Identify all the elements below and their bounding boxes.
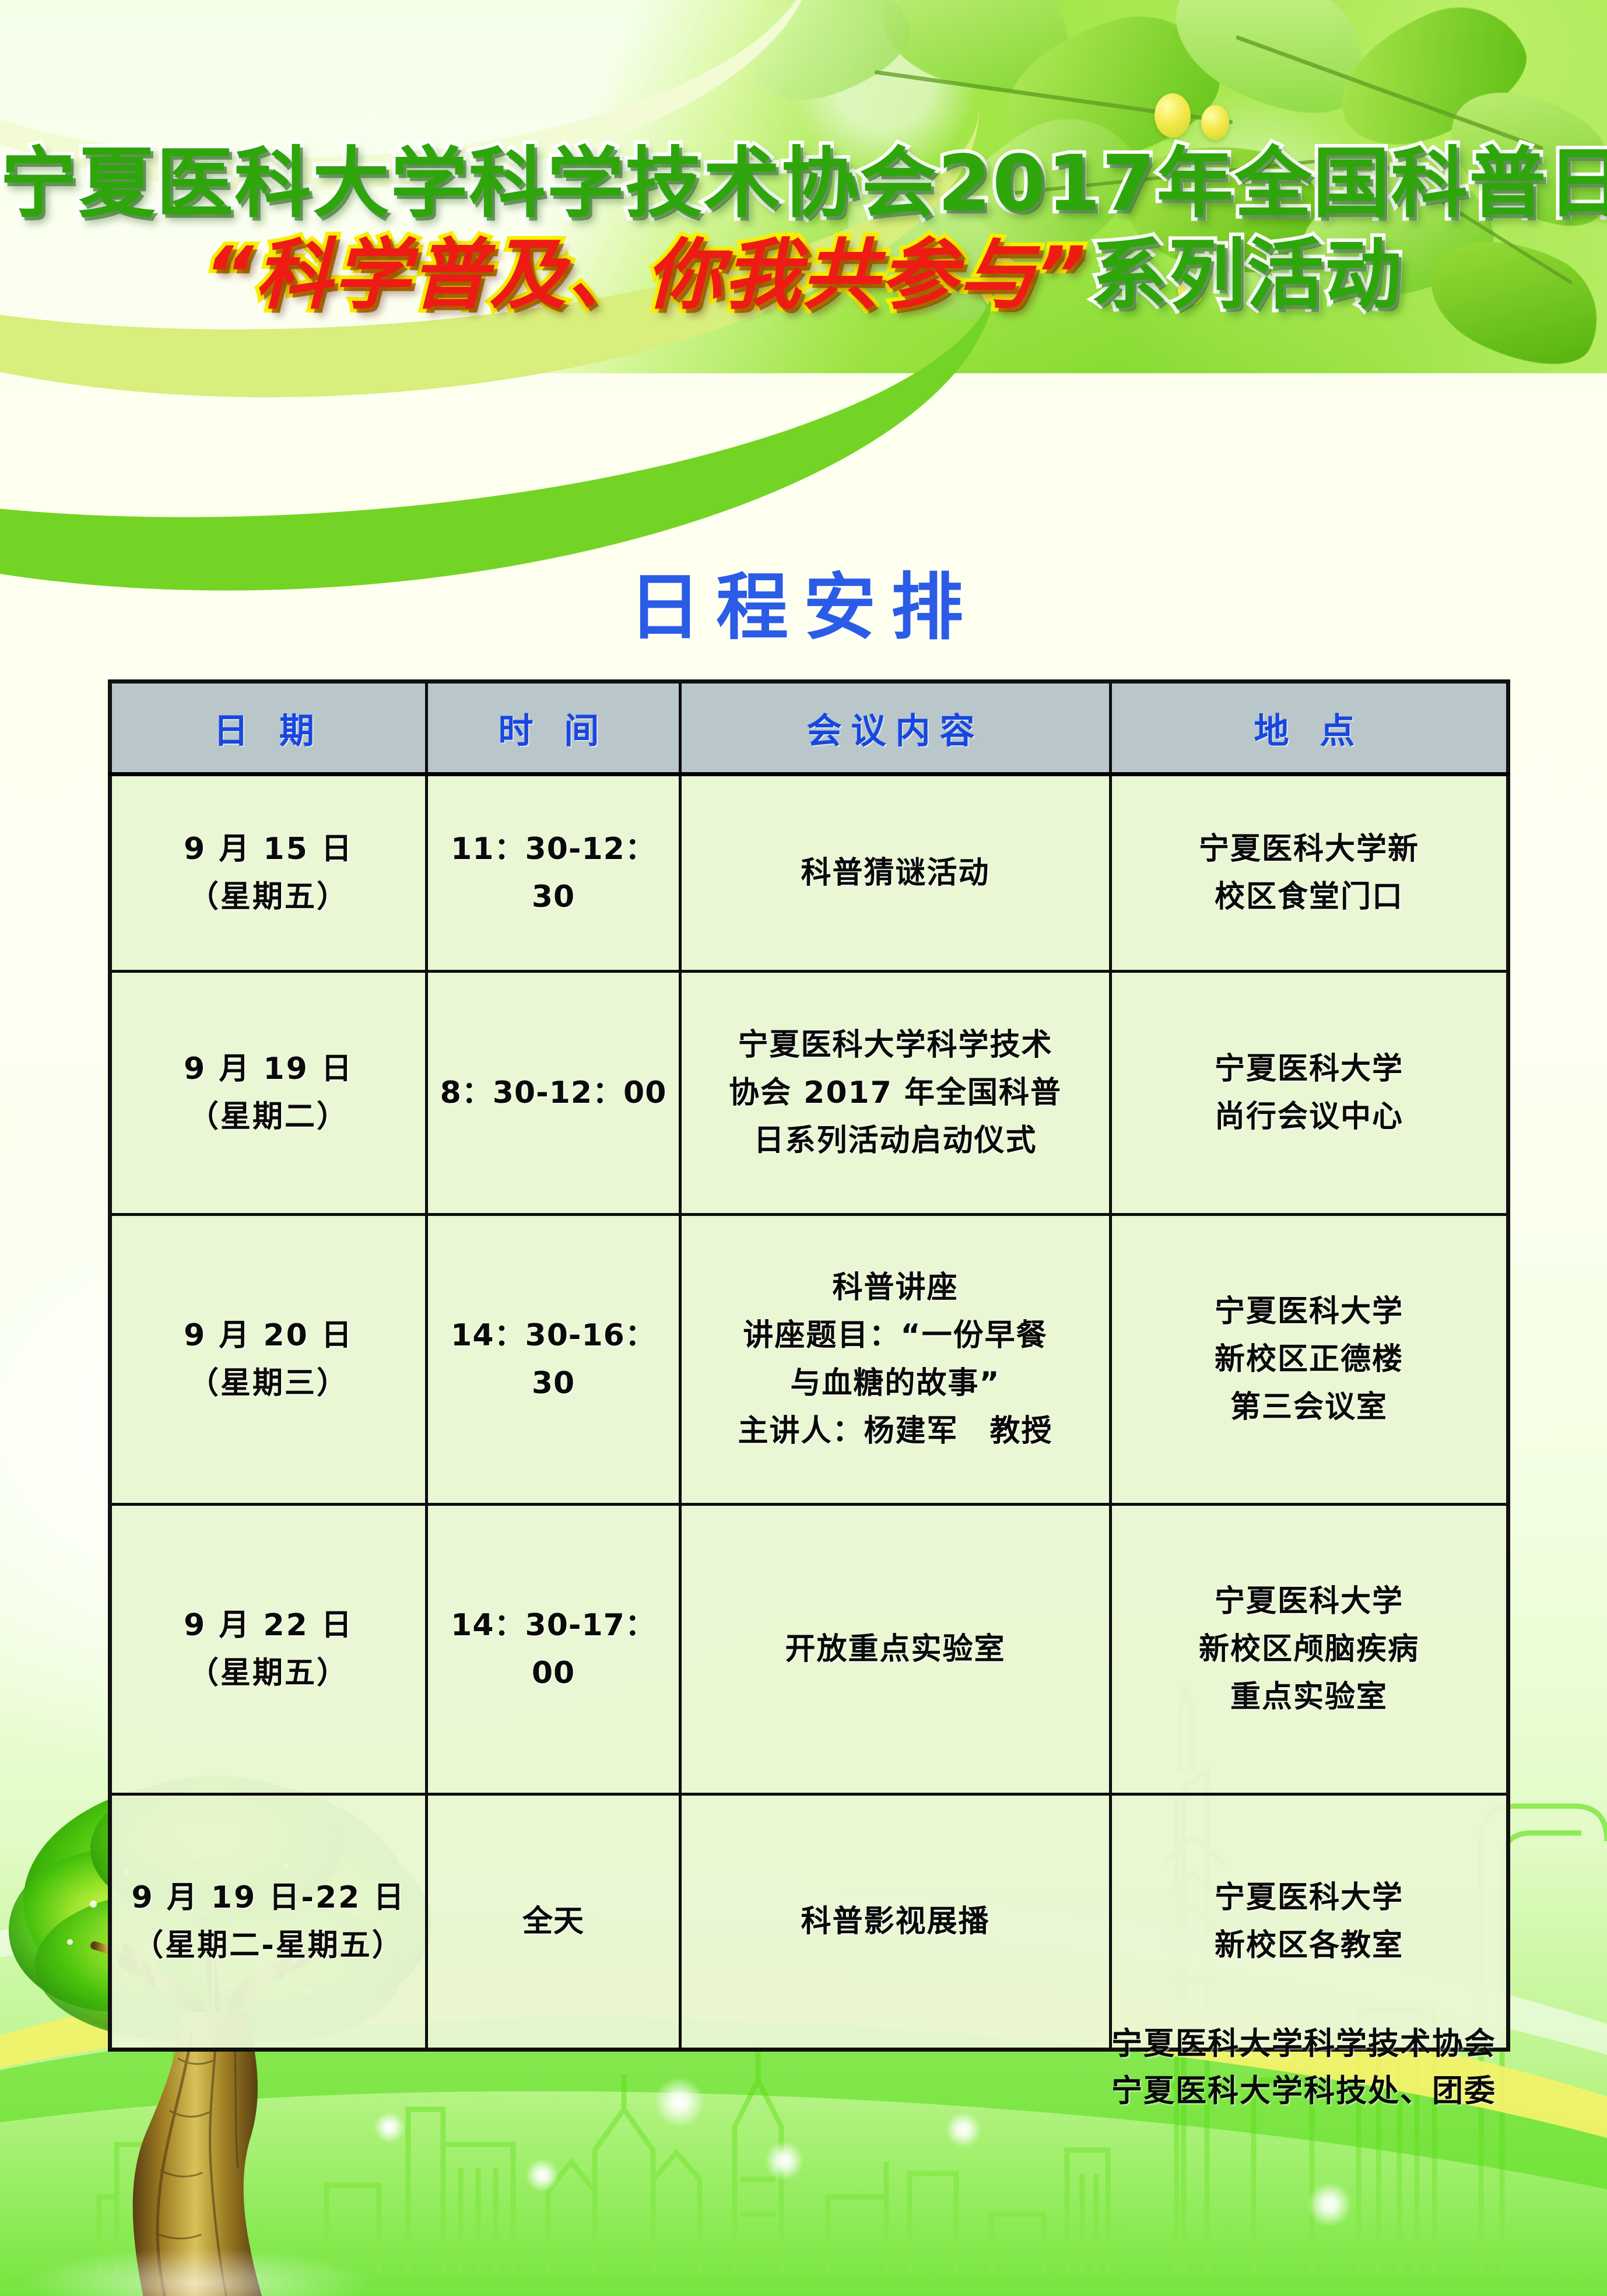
date-line: 9 月 19 日-22 日 [120, 1874, 417, 1922]
date-line: 9 月 19 日 [120, 1045, 417, 1093]
cell-date: 9 月 22 日 （星期五） [110, 1505, 427, 1794]
cell-date: 9 月 15 日 （星期五） [110, 774, 427, 972]
footer-line2: 宁夏医科大学科技处、团委 [1111, 2068, 1496, 2115]
date-line: 9 月 22 日 [120, 1601, 417, 1649]
date-line: 9 月 15 日 [120, 825, 417, 873]
cell-place: 宁夏医科大学 新校区正德楼 第三会议室 [1111, 1215, 1508, 1505]
cell-place: 宁夏医科大学新 校区食堂门口 [1111, 774, 1508, 972]
content-line: 科普影视展播 [690, 1898, 1101, 1946]
place-line: 重点实验室 [1120, 1673, 1498, 1721]
footer-organizers: 宁夏医科大学科学技术协会 宁夏医科大学科技处、团委 [1111, 2021, 1496, 2115]
poster-slogan: “科学普及、你我共参与” [204, 230, 1087, 320]
cell-content: 科普影视展播 [680, 1794, 1111, 2050]
place-line: 新校区正德楼 [1120, 1335, 1498, 1383]
column-header-place: 地 点 [1111, 682, 1508, 774]
table-header-row: 日 期 时 间 会议内容 地 点 [110, 682, 1508, 774]
column-header-time: 时 间 [427, 682, 680, 774]
place-line: 宁夏医科大学新 [1120, 825, 1498, 873]
content-line: 与血糖的故事” [690, 1359, 1101, 1407]
date-line: （星期五） [120, 873, 417, 921]
dew-drop-icon [1201, 105, 1229, 140]
schedule-table-wrapper: 日 期 时 间 会议内容 地 点 9 月 15 日 （星期五） 11：30-12… [108, 679, 1506, 2052]
cell-content: 宁夏医科大学科学技术 协会 2017 年全国科普 日系列活动启动仪式 [680, 972, 1111, 1215]
date-line: （星期二-星期五） [120, 1922, 417, 1969]
content-line: 科普讲座 [690, 1264, 1101, 1312]
place-line: 校区食堂门口 [1120, 873, 1498, 921]
content-line: 协会 2017 年全国科普 [690, 1069, 1101, 1117]
table-row: 9 月 19 日-22 日 （星期二-星期五） 全天 科普影视展播 宁夏医科大学… [110, 1794, 1508, 2050]
dew-drop-icon [1155, 93, 1191, 138]
date-line: （星期三） [120, 1359, 417, 1407]
column-header-date: 日 期 [110, 682, 427, 774]
content-line: 开放重点实验室 [690, 1625, 1101, 1673]
poster-root: 宁夏医科大学科学技术协会2017年全国科普日 “科学普及、你我共参与”系列活动 … [0, 0, 1607, 2296]
place-line: 宁夏医科大学 [1120, 1045, 1498, 1093]
cell-time: 全天 [427, 1794, 680, 2050]
table-row: 9 月 22 日 （星期五） 14：30-17：00 开放重点实验室 宁夏医科大… [110, 1505, 1508, 1794]
content-line: 宁夏医科大学科学技术 [690, 1021, 1101, 1069]
place-line: 宁夏医科大学 [1120, 1874, 1498, 1922]
cell-place: 宁夏医科大学 尚行会议中心 [1111, 972, 1508, 1215]
date-line: （星期二） [120, 1093, 417, 1141]
cell-time: 14：30-17：00 [427, 1505, 680, 1794]
cell-date: 9 月 19 日 （星期二） [110, 972, 427, 1215]
place-line: 宁夏医科大学 [1120, 1288, 1498, 1335]
footer-line1: 宁夏医科大学科学技术协会 [1111, 2021, 1496, 2068]
schedule-table: 日 期 时 间 会议内容 地 点 9 月 15 日 （星期五） 11：30-12… [108, 679, 1510, 2052]
content-line: 科普猜谜活动 [690, 849, 1101, 897]
poster-title-block: 宁夏医科大学科学技术协会2017年全国科普日 “科学普及、你我共参与”系列活动 [0, 140, 1607, 321]
place-line: 尚行会议中心 [1120, 1093, 1498, 1141]
poster-series-suffix: 系列活动 [1090, 230, 1403, 320]
table-row: 9 月 19 日 （星期二） 8：30-12：00 宁夏医科大学科学技术 协会 … [110, 972, 1508, 1215]
cell-content: 科普猜谜活动 [680, 774, 1111, 972]
place-line: 新校区颅脑疾病 [1120, 1625, 1498, 1673]
cell-date: 9 月 19 日-22 日 （星期二-星期五） [110, 1794, 427, 2050]
cell-date: 9 月 20 日 （星期三） [110, 1215, 427, 1505]
table-row: 9 月 20 日 （星期三） 14：30-16：30 科普讲座 讲座题目：“一份… [110, 1215, 1508, 1505]
place-line: 宁夏医科大学 [1120, 1578, 1498, 1625]
column-header-content: 会议内容 [680, 682, 1111, 774]
date-line: 9 月 20 日 [120, 1312, 417, 1359]
cell-place: 宁夏医科大学 新校区各教室 [1111, 1794, 1508, 2050]
poster-title-line2: “科学普及、你我共参与”系列活动 [0, 231, 1607, 320]
cell-content: 科普讲座 讲座题目：“一份早餐 与血糖的故事” 主讲人：杨建军 教授 [680, 1215, 1111, 1505]
page-title: 日程安排 [0, 548, 1607, 653]
cell-place: 宁夏医科大学 新校区颅脑疾病 重点实验室 [1111, 1505, 1508, 1794]
cell-time: 11：30-12：30 [427, 774, 680, 972]
place-line: 第三会议室 [1120, 1383, 1498, 1431]
content-line: 讲座题目：“一份早餐 [690, 1312, 1101, 1359]
date-line: （星期五） [120, 1649, 417, 1697]
poster-title-line1: 宁夏医科大学科学技术协会2017年全国科普日 [0, 140, 1607, 227]
table-body: 9 月 15 日 （星期五） 11：30-12：30 科普猜谜活动 宁夏医科大学… [110, 774, 1508, 2050]
table-head: 日 期 时 间 会议内容 地 点 [110, 682, 1508, 774]
content-line: 主讲人：杨建军 教授 [690, 1407, 1101, 1455]
place-line: 新校区各教室 [1120, 1922, 1498, 1969]
cell-time: 14：30-16：30 [427, 1215, 680, 1505]
cell-content: 开放重点实验室 [680, 1505, 1111, 1794]
cell-time: 8：30-12：00 [427, 972, 680, 1215]
content-line: 日系列活动启动仪式 [690, 1117, 1101, 1165]
table-row: 9 月 15 日 （星期五） 11：30-12：30 科普猜谜活动 宁夏医科大学… [110, 774, 1508, 972]
